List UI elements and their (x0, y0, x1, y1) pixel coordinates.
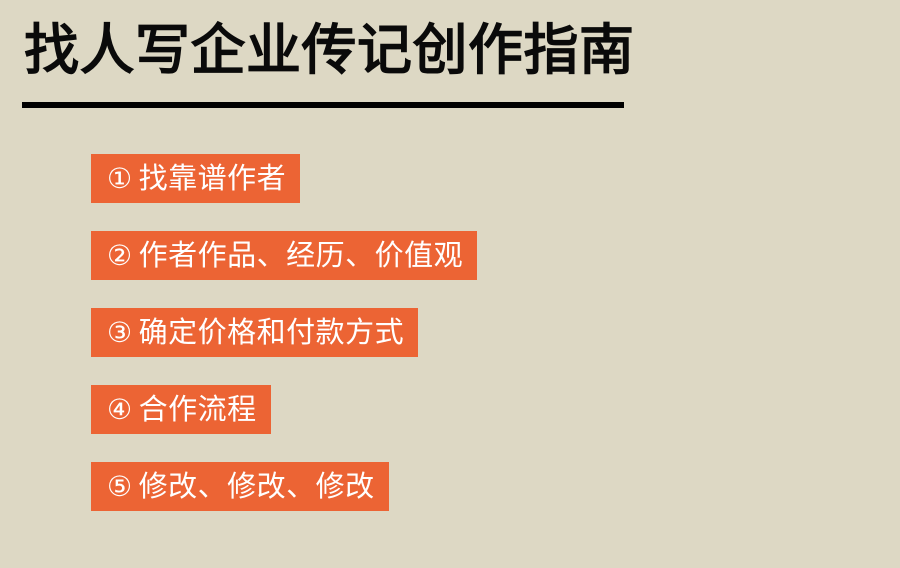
title-block: 找人写企业传记创作指南 (22, 18, 662, 83)
circled-number-1-icon: ① (107, 163, 133, 194)
circled-number-2-icon: ② (107, 240, 133, 271)
bullet-bar-list: ①找靠谱作者 ②作者作品、经历、价值观 ③确定价格和付款方式 ④合作流程 ⑤修改… (91, 154, 851, 511)
circled-number-5-icon: ⑤ (107, 471, 133, 502)
title-underline-rule (22, 102, 624, 108)
list-item-label: 作者作品、经历、价值观 (139, 240, 464, 272)
list-item-label: 确定价格和付款方式 (139, 317, 405, 349)
list-item[interactable]: ①找靠谱作者 (91, 154, 300, 203)
list-item-label: 修改、修改、修改 (139, 471, 375, 503)
list-item[interactable]: ③确定价格和付款方式 (91, 308, 418, 357)
slide-canvas: 找人写企业传记创作指南 ①找靠谱作者 ②作者作品、经历、价值观 ③确定价格和付款… (0, 0, 900, 568)
list-item-label: 合作流程 (139, 394, 257, 426)
circled-number-3-icon: ③ (107, 317, 133, 348)
list-item[interactable]: ②作者作品、经历、价值观 (91, 231, 477, 280)
list-item[interactable]: ⑤修改、修改、修改 (91, 462, 389, 511)
list-item-label: 找靠谱作者 (139, 163, 287, 195)
circled-number-4-icon: ④ (107, 394, 133, 425)
list-item[interactable]: ④合作流程 (91, 385, 271, 434)
page-title: 找人写企业传记创作指南 (22, 18, 662, 83)
